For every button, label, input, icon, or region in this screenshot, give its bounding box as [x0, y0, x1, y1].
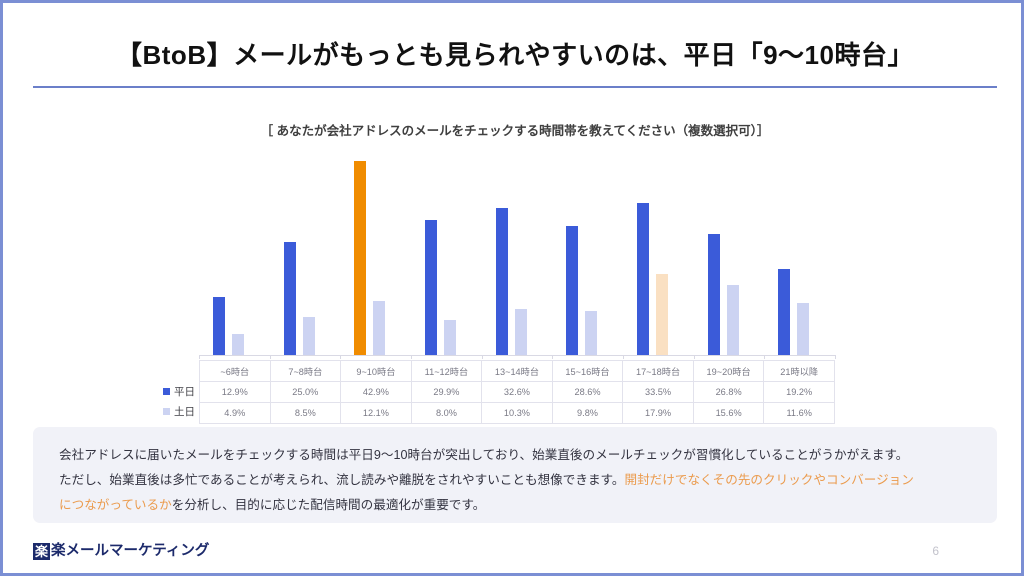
- table-cell-weekday: 33.5%: [623, 382, 694, 403]
- commentary-line-2: ただし、始業直後は多忙であることが考えられ、流し読みや離脱をされやすいことも想像…: [59, 468, 971, 493]
- bar-chart: [199, 151, 835, 356]
- table-cell-weekend: 11.6%: [764, 403, 835, 424]
- table-cell-weekday: 42.9%: [341, 382, 412, 403]
- table-cell-weekday: 12.9%: [200, 382, 271, 403]
- table-cell-weekend: 8.5%: [270, 403, 341, 424]
- table-cell-weekend: 9.8%: [552, 403, 623, 424]
- axis-tick: [623, 355, 624, 359]
- table-col-header: 7~8時台: [270, 361, 341, 382]
- table-cell-weekend: 8.0%: [411, 403, 482, 424]
- bar-group: [199, 151, 270, 356]
- table-cell-weekday: 29.9%: [411, 382, 482, 403]
- table-header-row: ~6時台7~8時台9~10時台11~12時台13~14時台15~16時台17~1…: [200, 361, 835, 382]
- legend-row-weekday: 平日: [153, 381, 199, 401]
- bar-weekend: [303, 317, 315, 356]
- commentary-line-2-plain: ただし、始業直後は多忙であることが考えられ、流し読みや離脱をされやすいことも想像…: [59, 473, 624, 487]
- table-cell-weekday: 25.0%: [270, 382, 341, 403]
- table-col-header: 9~10時台: [341, 361, 412, 382]
- bar-group: [482, 151, 553, 356]
- table-col-header: 21時以降: [764, 361, 835, 382]
- table-cell-weekday: 19.2%: [764, 382, 835, 403]
- table-cell-weekend: 15.6%: [693, 403, 764, 424]
- table-col-header: ~6時台: [200, 361, 271, 382]
- bar-weekend: [515, 309, 527, 356]
- axis-tick: [764, 355, 765, 359]
- bar-group: [764, 151, 835, 356]
- chart-plot-area: [199, 151, 835, 356]
- commentary-line-1: 会社アドレスに届いたメールをチェックする時間は平日9〜10時台が突出しており、始…: [59, 443, 971, 468]
- table-cell-weekday: 26.8%: [693, 382, 764, 403]
- commentary-line-3: につながっているかを分析し、目的に応じた配信時間の最適化が重要です。: [59, 493, 971, 518]
- bar-group: [623, 151, 694, 356]
- bar-weekday: [425, 220, 437, 356]
- bar-weekend: [373, 301, 385, 356]
- bar-group: [340, 151, 411, 356]
- table-col-header: 19~20時台: [693, 361, 764, 382]
- bar-weekday: [708, 234, 720, 356]
- table-row: 4.9%8.5%12.1%8.0%10.3%9.8%17.9%15.6%11.6…: [200, 403, 835, 424]
- axis-tick: [270, 355, 271, 359]
- axis-tick: [340, 355, 341, 359]
- bar-group: [270, 151, 341, 356]
- legend-label-weekend: 土日: [174, 404, 195, 419]
- bar-weekday: [637, 203, 649, 356]
- commentary-line-2-highlight: 開封だけでなくその先のクリックやコンバージョン: [624, 473, 913, 487]
- axis-tick: [199, 355, 200, 359]
- legend-swatch-weekend-icon: [163, 408, 170, 415]
- chart-caption: ［ あなたが会社アドレスのメールをチェックする時間帯を教えてください（複数選択可…: [3, 120, 1024, 139]
- footer-logo: 楽 楽メールマーケティング: [33, 543, 209, 560]
- table-col-header: 11~12時台: [411, 361, 482, 382]
- bar-weekday: [213, 297, 225, 356]
- bar-weekend: [727, 285, 739, 356]
- table-col-header: 17~18時台: [623, 361, 694, 382]
- bar-weekend: [232, 334, 244, 356]
- slide-frame: 【BtoB】メールがもっとも見られやすいのは、平日「9〜10時台」 ［ あなたが…: [0, 0, 1024, 576]
- axis-tick: [482, 355, 483, 359]
- bar-weekday: [496, 208, 508, 357]
- commentary-line-3-highlight: につながっているか: [59, 498, 172, 512]
- chart-data-table: ~6時台7~8時台9~10時台11~12時台13~14時台15~16時台17~1…: [199, 360, 835, 424]
- table-cell-weekend: 12.1%: [341, 403, 412, 424]
- page-number: 6: [932, 544, 939, 558]
- bar-weekday: [354, 161, 366, 356]
- bar-group: [552, 151, 623, 356]
- axis-tick: [552, 355, 553, 359]
- axis-tick: [694, 355, 695, 359]
- table-col-header: 13~14時台: [482, 361, 553, 382]
- table-cell-weekday: 28.6%: [552, 382, 623, 403]
- legend-swatch-weekday-icon: [163, 388, 170, 395]
- bar-group: [694, 151, 765, 356]
- bar-weekday: [284, 242, 296, 356]
- bar-weekend: [797, 303, 809, 356]
- chart-axis-line: [199, 355, 835, 356]
- commentary-line-3-plain: を分析し、目的に応じた配信時間の最適化が重要です。: [172, 498, 486, 512]
- page-title: 【BtoB】メールがもっとも見られやすいのは、平日「9〜10時台」: [116, 35, 914, 72]
- brand-name: 楽メールマーケティング: [51, 543, 209, 560]
- title-divider: [33, 86, 997, 88]
- bar-weekend: [585, 311, 597, 356]
- bar-weekday: [778, 269, 790, 356]
- table-cell-weekday: 32.6%: [482, 382, 553, 403]
- brand-mark-icon: 楽: [33, 543, 50, 560]
- bar-group: [411, 151, 482, 356]
- table-cell-weekend: 17.9%: [623, 403, 694, 424]
- bar-weekday: [566, 226, 578, 356]
- legend-row-weekend: 土日: [153, 401, 199, 421]
- axis-tick: [411, 355, 412, 359]
- table-row: 12.9%25.0%42.9%29.9%32.6%28.6%33.5%26.8%…: [200, 382, 835, 403]
- table-col-header: 15~16時台: [552, 361, 623, 382]
- axis-tick: [835, 355, 836, 359]
- bar-weekend: [444, 320, 456, 356]
- table-cell-weekend: 10.3%: [482, 403, 553, 424]
- legend-label-weekday: 平日: [174, 384, 195, 399]
- bar-weekend: [656, 274, 668, 356]
- title-area: 【BtoB】メールがもっとも見られやすいのは、平日「9〜10時台」: [21, 27, 1009, 79]
- commentary-box: 会社アドレスに届いたメールをチェックする時間は平日9〜10時台が突出しており、始…: [33, 427, 997, 523]
- table-cell-weekend: 4.9%: [200, 403, 271, 424]
